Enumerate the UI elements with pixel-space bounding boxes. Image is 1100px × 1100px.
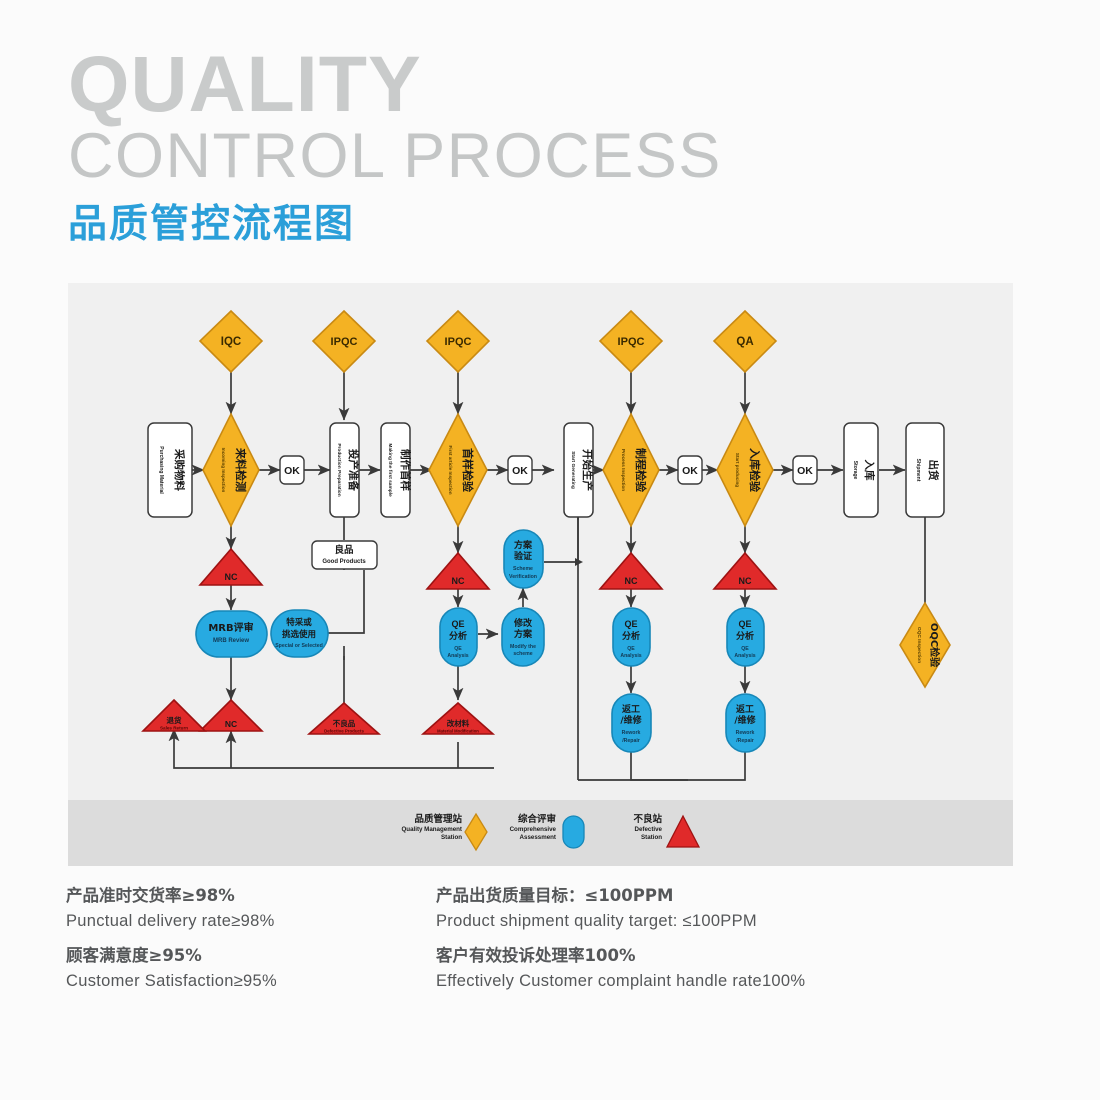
node-qe-analysis-1[interactable]: QE 分析 QE Analysis [440,608,477,666]
node-ok-3: OK [678,456,702,484]
nc-label: NC [452,576,465,586]
node-label-en-2: scheme [513,651,532,657]
legend-label-en-2: Station [441,834,462,841]
node-oqc-inspection[interactable]: OQC检验 OQC Inspection [900,603,950,687]
node-label-en: Material Modification [437,729,479,734]
nc-label: NC [225,719,237,729]
metric-en: Product shipment quality target: ≤100PPM [436,909,757,934]
node-label-en: Process Inspection [621,449,626,491]
ok-label: OK [512,465,528,477]
node-nc-2[interactable]: NC [427,553,489,589]
legend-pill-icon [563,816,584,848]
metric-cn: 客户有效投诉处理率100% [436,944,805,969]
node-label-en-1: Rework [622,730,641,736]
legend-label-cn: 不良站 [633,813,662,825]
node-label-cn: 投产准备 [347,449,360,491]
node-scheme-verification[interactable]: 方案 验证 Scheme Verification [504,530,543,588]
metric-cn: 产品出货质量目标：≤100PPM [436,884,757,909]
metric-delivery-rate: 产品准时交货率≥98% Punctual delivery rate≥98% [66,884,275,934]
node-label-cn: 入库检验 [748,448,762,493]
node-label-qe: QE [451,619,464,629]
node-incoming-inspection[interactable]: 来料检测 Incoming Inspection [203,414,259,526]
node-label-cn: 改材料 [447,718,470,728]
node-start-generating[interactable]: 开始生产 Start Generating [564,423,594,517]
node-nc-3[interactable]: NC [600,553,662,589]
legend-items: 品质管理站 Quality Management Station 综合评审 Co… [401,813,699,850]
node-ok-4: OK [793,456,817,484]
node-label-cn: 良品 [334,544,353,556]
node-label-cn: 分析 [449,630,467,642]
metric-cn: 产品准时交货率≥98% [66,884,275,909]
node-label-en-1: QE [741,646,749,652]
node-label-cn: 来料检测 [234,447,248,492]
node-purchasing[interactable]: 采购物料 Purchasing Material [148,423,192,517]
ok-label: OK [797,465,813,477]
node-label-en: Good Products [322,559,366,565]
metric-complaint-handle-rate: 客户有效投诉处理率100% Effectively Customer compl… [436,944,805,994]
node-label-en-1: Scheme [513,566,533,572]
legend-diamond-icon [465,814,487,850]
node-label-cn: 制程检验 [634,448,648,493]
node-label-cn-2: 方案 [514,628,533,640]
legend-label-en-2: Assessment [520,834,556,841]
node-label-cn: 分析 [622,630,640,642]
node-label-en-1: Modify the [510,644,536,650]
node-label-cn-2: /维修 [620,714,642,726]
metric-shipment-quality: 产品出货质量目标：≤100PPM Product shipment qualit… [436,884,757,934]
node-good-products[interactable]: 良品 Good Products [312,541,377,569]
node-label-en-1: QE [454,646,462,652]
node-label-en: Start producing [735,453,740,487]
legend-triangle-icon [667,816,699,847]
node-label-en: Sales Return [160,726,188,731]
legend-defective-station: 不良站 Defective Station [633,813,699,847]
node-nc-5[interactable]: NC [200,700,262,731]
node-storage-inspection[interactable]: 入库检验 Start producing [717,414,773,526]
metric-en: Customer Satisfaction≥95% [66,969,277,994]
nc-label: NC [739,576,752,586]
node-qe-analysis-2[interactable]: QE 分析 QE Analysis [613,608,650,666]
nc-label: NC [225,572,238,582]
node-label-cn: 制作首样 [399,449,412,491]
node-sales-return[interactable]: 退货 Sales Return [143,700,205,731]
node-mrb-review[interactable]: MRB评审 MRB Review [196,611,267,657]
node-label-en: Production Preparation [336,443,342,496]
node-process-inspection[interactable]: 制程检验 Process Inspection [603,414,659,526]
node-label-cn: 不良品 [333,718,356,728]
legend-label-en-1: Comprehensive [510,826,557,833]
node-label-cn-1: 返工 [622,703,640,715]
node-ok-1: OK [280,456,304,484]
node-first-article-inspection[interactable]: 首样检验 First article Inspection [429,414,487,526]
node-label-cn-2: /维修 [734,714,756,726]
node-first-sample[interactable]: 制作首样 Making the first sample [381,423,412,517]
node-defective-products[interactable]: 不良品 Defective Products [309,703,379,734]
station-label: IPQC [445,336,472,348]
node-qe-analysis-3[interactable]: QE 分析 QE Analysis [727,608,764,666]
node-label-cn-1: 方案 [514,539,533,551]
legend-label-en-2: Station [641,834,662,841]
node-label-en-1: QE [627,646,635,652]
metric-en: Punctual delivery rate≥98% [66,909,275,934]
node-rework-repair-2[interactable]: 返工 /维修 Rework /Repair [726,694,765,752]
node-nc-1[interactable]: NC [200,549,262,585]
node-label-en: Special or Selected [275,643,323,649]
station-label: IPQC [618,336,645,348]
node-label-en-1: Rework [736,730,755,736]
legend-quality-management-station: 品质管理站 Quality Management Station [401,813,487,850]
station-iqc[interactable]: IQC [200,311,262,372]
node-modify-scheme[interactable]: 修改 方案 Modify the scheme [502,608,544,666]
station-ipqc-2[interactable]: IPQC [427,311,489,372]
node-label-en: Incoming Inspection [221,448,226,493]
node-label-cn: 退货 [167,715,182,725]
node-label-en-2: Analysis [447,653,468,659]
legend-label-en-1: Quality Management [401,826,462,833]
metric-en: Effectively Customer complaint handle ra… [436,969,805,994]
node-ok-2: OK [508,456,532,484]
node-nc-4[interactable]: NC [714,553,776,589]
station-label: IQC [221,336,241,348]
inspection-stations: IQC IPQC IPQC IPQC QA [200,311,776,372]
station-ipqc-3[interactable]: IPQC [600,311,662,372]
legend-comprehensive-assessment: 综合评审 Comprehensive Assessment [510,813,584,848]
node-special-or-selected[interactable]: 特采或 挑选使用 Special or Selected [271,610,328,657]
node-label-en-2: Verification [509,574,537,580]
node-shipment[interactable]: 出货 Shipment [906,423,944,517]
node-label-en: Storage [852,461,858,480]
node-label-cn: 首样检验 [461,448,475,493]
station-ipqc-1[interactable]: IPQC [313,311,375,372]
node-label-en-2: Analysis [620,653,641,659]
node-label-en-2: /Repair [622,738,640,744]
node-label-cn: MRB评审 [208,621,253,634]
node-label-cn: 开始生产 [581,449,594,491]
node-label-en: Making the first sample [387,443,393,497]
metric-customer-satisfaction: 顾客满意度≥95% Customer Satisfaction≥95% [66,944,277,994]
node-label-en: Shipment [915,459,921,482]
node-label-cn-1: 修改 [513,617,533,629]
node-label-en: Start Generating [570,451,576,489]
legend-label-cn: 品质管理站 [414,813,462,825]
ok-label: OK [284,465,300,477]
node-label-en-2: /Repair [736,738,754,744]
node-label-en: First article Inspection [448,445,453,494]
node-label-cn: 采购物料 [173,448,186,491]
station-qa[interactable]: QA [714,311,776,372]
node-label-cn: 入库 [863,460,876,481]
connector-lines [174,372,925,780]
node-rework-repair-1[interactable]: 返工 /维修 Rework /Repair [612,694,651,752]
node-label-qe: QE [624,619,637,629]
node-label-cn: 出货 [927,460,940,481]
node-material-modification[interactable]: 改材料 Material Modification [423,703,493,734]
node-label-cn-line1: 特采或 [286,617,312,628]
ok-label: OK [682,465,698,477]
node-label-en-2: Analysis [734,653,755,659]
node-label-cn-2: 验证 [514,550,532,562]
node-label-en: MRB Review [213,638,249,644]
nc-label: NC [625,576,638,586]
node-label-cn-line2: 挑选使用 [282,629,316,640]
node-label-en: Purchasing Material [158,446,164,494]
node-label-en: OQC Inspection [916,627,922,663]
node-production-preparation[interactable]: 投产准备 Production Preparation [330,423,360,517]
node-label-cn: 分析 [736,630,754,642]
flowchart-canvas: IQC IPQC IPQC IPQC QA 采购物料 Purchasing Ma… [0,0,1100,1100]
node-storage[interactable]: 入库 Storage [844,423,878,517]
node-label-cn: OQC检验 [928,623,941,668]
metric-cn: 顾客满意度≥95% [66,944,277,969]
node-label-en: Defective Products [324,729,364,734]
node-label-cn-1: 返工 [736,703,754,715]
station-label: QA [736,336,753,348]
legend-label-cn: 综合评审 [518,813,556,825]
node-label-qe: QE [738,619,751,629]
legend-label-en-1: Defective [634,826,662,833]
station-label: IPQC [331,336,358,348]
